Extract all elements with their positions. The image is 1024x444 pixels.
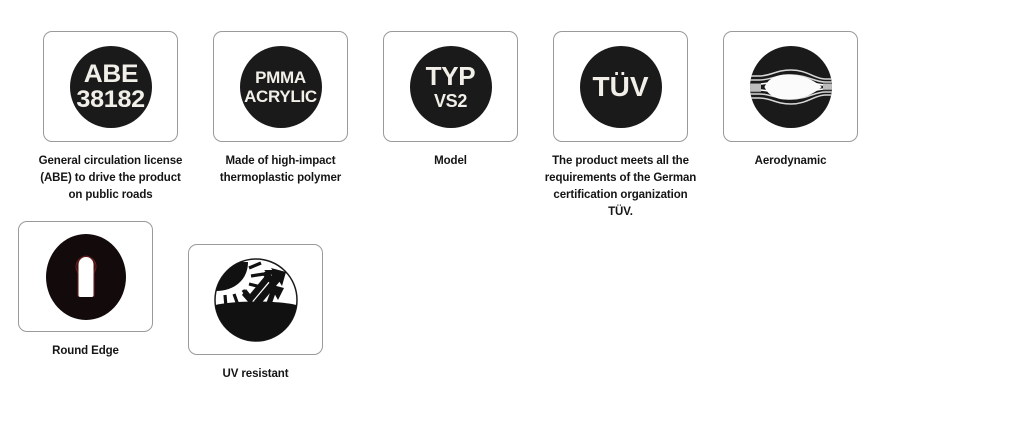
tuv-certification-disc-icon: TÜV <box>580 46 662 128</box>
badge-caption-round-edge: Round Edge <box>8 343 163 360</box>
badge-item-abe: ABE 38182 General circulation license (A… <box>26 31 195 204</box>
pmma-disc-line2: ACRYLIC <box>244 88 317 105</box>
badge-item-round-edge: Round Edge <box>1 221 170 360</box>
badge-caption-tuv: The product meets all the requirements o… <box>543 153 698 221</box>
badge-card-typ: TYP VS2 <box>383 31 518 142</box>
pmma-disc-line1: PMMA <box>255 69 306 86</box>
badge-item-tuv: TÜV The product meets all the requiremen… <box>536 31 705 221</box>
typ-disc-line1: TYP <box>426 63 476 89</box>
badge-item-aerodynamic: Aerodynamic <box>706 31 875 170</box>
pmma-acrylic-disc-icon: PMMA ACRYLIC <box>240 46 322 128</box>
badge-card-abe: ABE 38182 <box>43 31 178 142</box>
badge-caption-abe: General circulation license (ABE) to dri… <box>33 153 188 204</box>
badge-card-uv-resistant <box>188 244 323 355</box>
uv-resistant-sun-arrows-icon <box>214 258 298 342</box>
aerodynamic-airfoil-streamlines-icon <box>745 46 837 128</box>
badge-card-pmma: PMMA ACRYLIC <box>213 31 348 142</box>
badge-caption-pmma: Made of high-impact thermoplastic polyme… <box>203 153 358 187</box>
abe-approval-disc-icon: ABE 38182 <box>70 46 152 128</box>
badge-item-uv-resistant: UV resistant <box>171 244 340 383</box>
badge-card-aerodynamic <box>723 31 858 142</box>
badge-item-pmma: PMMA ACRYLIC Made of high-impact thermop… <box>196 31 365 187</box>
badge-item-typ: TYP VS2 Model <box>366 31 535 170</box>
typ-disc-line2: VS2 <box>434 92 467 110</box>
badge-card-round-edge <box>18 221 153 332</box>
badge-caption-aerodynamic: Aerodynamic <box>713 153 868 170</box>
abe-disc-line2: 38182 <box>76 88 145 112</box>
type-model-disc-icon: TYP VS2 <box>410 46 492 128</box>
badge-caption-uv-resistant: UV resistant <box>178 366 333 383</box>
tuv-disc-line1: TÜV <box>593 73 649 101</box>
round-edge-profile-icon <box>46 234 126 320</box>
round-edge-profile-shape <box>78 257 93 297</box>
badge-caption-typ: Model <box>373 153 528 170</box>
feature-badge-grid: ABE 38182 General circulation license (A… <box>0 0 1024 383</box>
badge-card-tuv: TÜV <box>553 31 688 142</box>
abe-disc-line1: ABE <box>83 62 137 87</box>
